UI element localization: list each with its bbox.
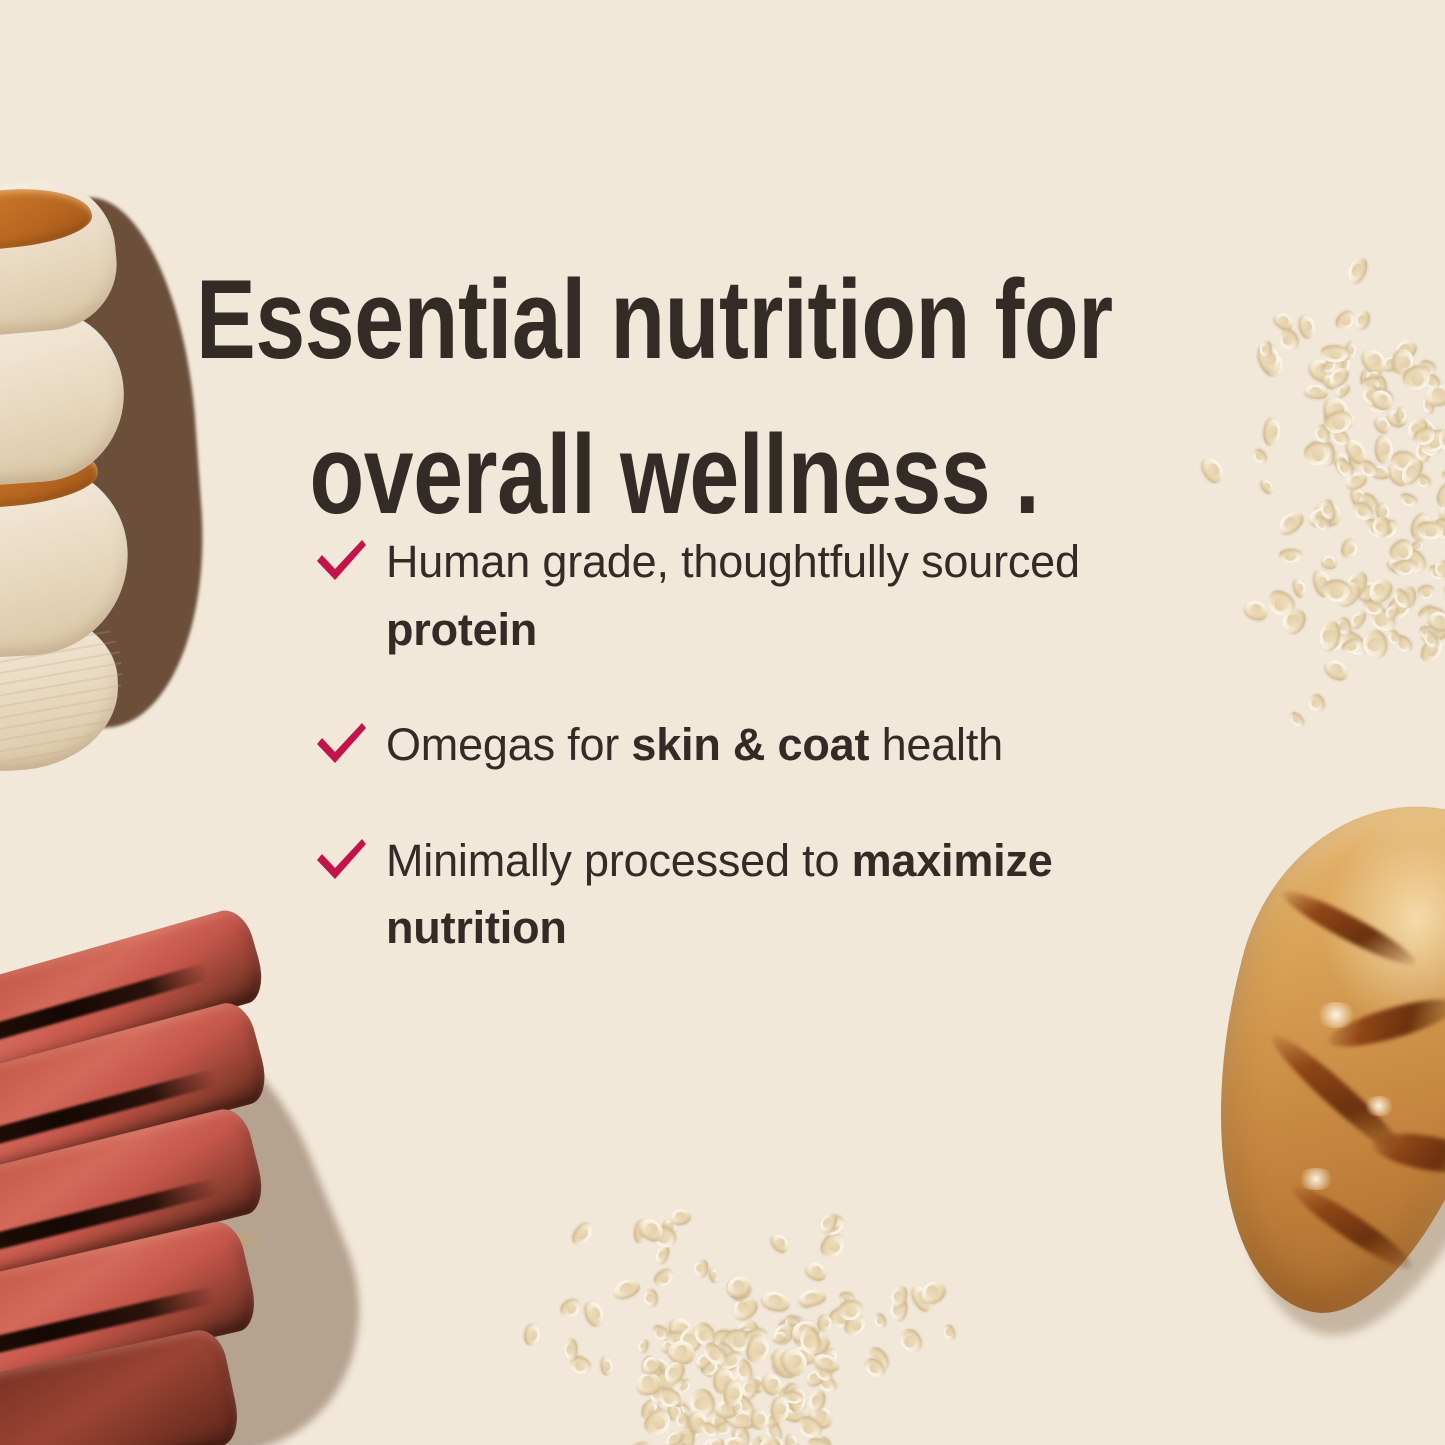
- bullet-text-pre: Human grade, thoughtfully sourced: [386, 536, 1080, 587]
- oat-flake: [1290, 577, 1307, 598]
- oat-flake: [767, 1231, 793, 1257]
- rolled-oats-cluster-image: [1250, 300, 1445, 690]
- oat-flake: [558, 1296, 585, 1321]
- check-icon: [314, 719, 368, 769]
- oat-flake: [1393, 559, 1416, 575]
- oat-flake: [653, 1244, 671, 1266]
- list-item: Human grade, thoughtfully sourced protei…: [314, 528, 1194, 663]
- oat-flake: [693, 1259, 709, 1279]
- oat-flake: [802, 1259, 829, 1285]
- oat-flake: [1417, 584, 1435, 600]
- sliced-turkey-roast-image: [0, 176, 218, 746]
- oat-flake: [1439, 580, 1445, 608]
- oat-flake: [564, 1338, 578, 1360]
- oat-flake: [1338, 537, 1360, 561]
- check-icon: [314, 536, 368, 586]
- oat-flake: [675, 1413, 689, 1429]
- oat-flake: [1372, 516, 1390, 537]
- oat-flake: [1352, 308, 1372, 331]
- oat-flake: [1197, 453, 1227, 486]
- oat-flake: [624, 1438, 654, 1445]
- oat-flake: [797, 1288, 827, 1309]
- oat-flake: [522, 1322, 542, 1347]
- bullet-text-strong: protein: [386, 604, 537, 655]
- oat-flake: [942, 1323, 957, 1342]
- oat-flake: [1242, 597, 1271, 624]
- oat-flake: [1319, 554, 1338, 571]
- oat-flake: [1362, 629, 1389, 660]
- roasted-chicken-breast-image: [1222, 796, 1445, 1356]
- oat-flake: [1274, 507, 1307, 539]
- oat-flake: [582, 1299, 607, 1330]
- check-icon: [314, 835, 368, 885]
- oat-flake: [872, 1312, 888, 1330]
- oat-flake: [1258, 477, 1276, 496]
- benefits-list: Human grade, thoughtfully sourced protei…: [314, 528, 1194, 962]
- promo-banner: Essential nutrition for overall wellness…: [0, 0, 1445, 1445]
- oat-flake: [896, 1326, 925, 1356]
- oat-flake: [1344, 254, 1371, 286]
- oat-flake: [599, 1356, 613, 1376]
- oat-flake: [636, 1337, 650, 1354]
- oat-flake: [1321, 655, 1351, 683]
- oat-flake: [611, 1276, 643, 1302]
- sliced-steak-image: [0, 972, 384, 1445]
- chicken-gloss-highlight: [1362, 1096, 1396, 1116]
- oat-flake: [1433, 477, 1445, 512]
- oat-flake: [643, 1289, 658, 1308]
- headline-line-1: Essential nutrition for: [196, 243, 1076, 398]
- oat-flake: [1279, 548, 1302, 562]
- oat-flake: [669, 1207, 693, 1226]
- oat-flake: [1297, 313, 1318, 340]
- bullet-text-pre: Omegas for: [386, 719, 631, 770]
- chicken-gloss-highlight: [1314, 1002, 1358, 1028]
- bullet-text-pre: Minimally processed to: [386, 835, 852, 886]
- oat-flake: [568, 1219, 596, 1248]
- bullet-text-strong: skin & coat: [631, 719, 869, 770]
- oat-flake: [1262, 418, 1282, 447]
- page-title: Essential nutrition for overall wellness…: [196, 243, 1076, 552]
- oat-flake: [1250, 446, 1270, 466]
- oat-flake: [1287, 709, 1307, 729]
- rolled-oats-scatter-image: [528, 1076, 938, 1445]
- oat-flake: [1276, 326, 1303, 354]
- oat-flake: [707, 1267, 719, 1284]
- bullet-text-post: health: [869, 719, 1003, 770]
- oat-flake: [1399, 491, 1420, 509]
- list-item: Minimally processed to maximize nutritio…: [314, 827, 1194, 962]
- oat-flake: [759, 1289, 792, 1315]
- oat-flake: [1441, 469, 1445, 483]
- oat-flake: [650, 1266, 676, 1290]
- list-item: Omegas for skin & coat health: [314, 711, 1194, 779]
- chicken-gloss-highlight: [1296, 1168, 1336, 1190]
- oat-flake: [1305, 691, 1327, 714]
